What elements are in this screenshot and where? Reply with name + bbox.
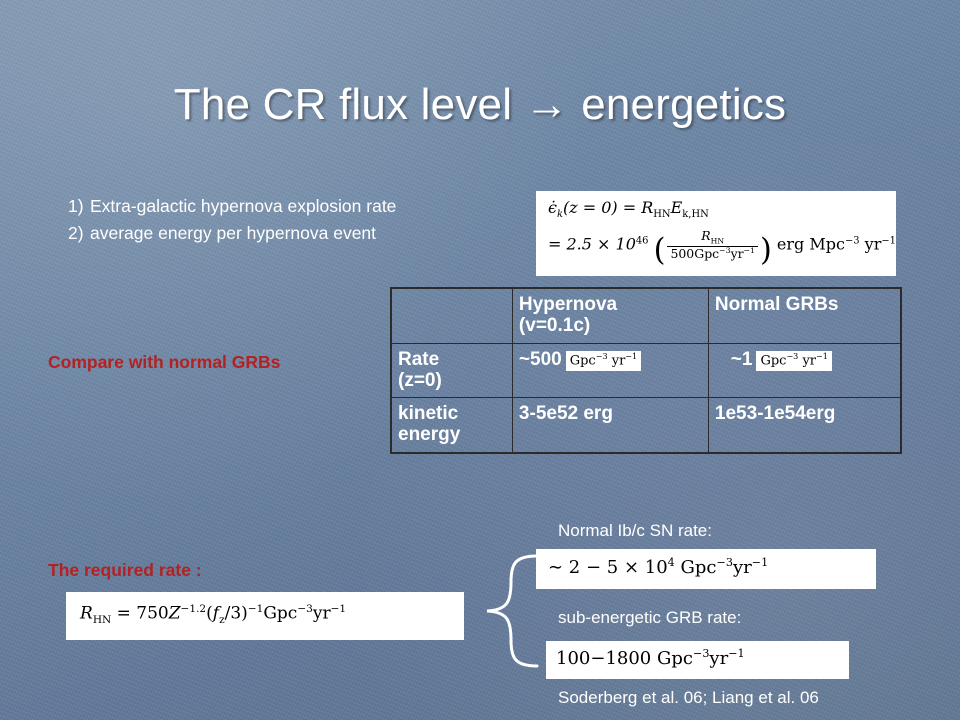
- rhn-div3: /3: [225, 604, 242, 624]
- rate-fraction: RHN 500Gpc−3yr−1: [667, 229, 758, 261]
- page-title: The CR flux level → energetics: [0, 82, 960, 128]
- table-row: kinetic energy 3-5e52 erg 1e53-1e54erg: [392, 398, 901, 453]
- rate-symbol: R: [641, 198, 653, 217]
- grb-unit-exp1: −3: [693, 647, 709, 660]
- required-rate-formula-box: RHN = 750Z−1.2(fz/3)−1Gpc−3yr−1: [66, 592, 464, 640]
- brace-connector-icon: [481, 552, 539, 670]
- numbered-list: 1) Extra-galactic hypernova explosion ra…: [68, 193, 396, 247]
- cell-hypernova-rate-value: ~500: [519, 349, 562, 370]
- cell-grb-rate-unit: Gpc−3 yr−1: [756, 351, 831, 371]
- row-label-kinetic-energy: kinetic energy: [392, 398, 513, 453]
- rhn-symbol: R: [80, 604, 93, 624]
- table-header-hypernova: Hypernova (v=0.1c): [512, 289, 708, 344]
- cell-grb-energy: 1e53-1e54erg: [708, 398, 900, 453]
- row-label-kinetic-energy-line1: kinetic: [398, 403, 506, 424]
- slide-canvas: The CR flux level → energetics 1) Extra-…: [0, 0, 960, 720]
- energy-density-formula-line2: = 2.5 × 1046 ( RHN 500Gpc−3yr−1 ) erg Mp…: [548, 229, 886, 268]
- tail-unit: erg Mpc: [777, 235, 845, 254]
- grb-unit: Gpc: [657, 648, 693, 669]
- rhn-paren-open: (: [206, 604, 213, 624]
- list-item-label: average energy per hypernova event: [90, 220, 376, 247]
- row-label-kinetic-energy-line2: energy: [398, 424, 506, 445]
- rhn-unit-exp1: −3: [297, 603, 313, 615]
- energy-subscript: k,HN: [682, 209, 708, 220]
- list-item-label: Extra-galactic hypernova explosion rate: [90, 193, 396, 220]
- ibc-rate-caption: Normal Ib/c SN rate:: [558, 521, 712, 541]
- ibc-lead: ∼ 2 − 5 × 10: [548, 557, 668, 578]
- fraction-numerator-subscript: HN: [711, 237, 725, 246]
- fraction-numerator-symbol: R: [701, 228, 710, 243]
- rhn-unit: Gpc: [263, 604, 297, 624]
- ibc-rate-formula-box: ∼ 2 − 5 × 104 Gpc−3yr−1: [536, 549, 876, 589]
- fraction-denominator-unit: yr: [731, 246, 744, 261]
- table-header-row: Hypernova (v=0.1c) Normal GRBs: [392, 289, 901, 344]
- grb-unit2: yr: [709, 648, 728, 669]
- reference-caption: Soderberg et al. 06; Liang et al. 06: [558, 688, 819, 708]
- grb-lead: 100−1800: [556, 648, 651, 669]
- table-header-hypernova-line1: Hypernova: [519, 294, 702, 315]
- rhn-equals: = 750: [117, 604, 169, 624]
- tail-exp2: −1: [881, 236, 896, 247]
- tail-exp1: −3: [845, 236, 860, 247]
- eq2-exponent: 46: [636, 236, 649, 247]
- paren-close: ): [760, 233, 772, 268]
- comparison-table: Hypernova (v=0.1c) Normal GRBs Rate (z=0…: [390, 287, 902, 454]
- rhn-z-exponent: −1.2: [181, 603, 207, 615]
- rhn-paren-exponent: −1: [248, 603, 264, 615]
- energy-symbol: E: [671, 198, 683, 217]
- row-label-rate: Rate (z=0): [392, 343, 513, 398]
- cell-hypernova-energy: 3-5e52 erg: [512, 398, 708, 453]
- ibc-unit-exp2: −1: [752, 556, 768, 569]
- ibc-unit: Gpc: [681, 557, 717, 578]
- tail-unit2: yr: [865, 235, 882, 254]
- ibc-exponent: 4: [668, 556, 675, 569]
- fraction-denominator-text: 500Gpc: [670, 246, 719, 261]
- rhn-z-symbol: Z: [169, 604, 181, 624]
- cell-hypernova-rate: ~500Gpc−3 yr−1: [512, 343, 708, 398]
- rhn-unit2: yr: [313, 604, 331, 624]
- grb-rate-caption: sub-energetic GRB rate:: [558, 608, 741, 628]
- fraction-numerator: RHN: [667, 229, 758, 247]
- compare-label: Compare with normal GRBs: [48, 352, 280, 373]
- energy-density-formula-line1: ϵ̇k(z = 0) = RHNEk,HN: [548, 198, 886, 220]
- epsilon-argument: (z = 0) =: [563, 198, 636, 217]
- rhn-paren-close: ): [241, 604, 248, 624]
- list-item: 2) average energy per hypernova event: [68, 220, 396, 247]
- list-item-number: 2): [68, 220, 90, 247]
- ibc-unit-exp1: −3: [717, 556, 733, 569]
- paren-open: (: [654, 233, 666, 268]
- epsilon-dot-symbol: ϵ̇: [548, 198, 557, 217]
- list-item: 1) Extra-galactic hypernova explosion ra…: [68, 193, 396, 220]
- rate-subscript: HN: [653, 209, 670, 220]
- list-item-number: 1): [68, 193, 90, 220]
- row-label-rate-line2: (z=0): [398, 370, 506, 391]
- rhn-subscript: HN: [93, 614, 111, 626]
- cell-grb-rate: ~1Gpc−3 yr−1: [708, 343, 900, 398]
- eq2-lead: = 2.5 × 10: [548, 235, 636, 254]
- required-rate-label: The required rate :: [48, 560, 202, 581]
- rhn-unit-exp2: −1: [331, 603, 347, 615]
- fraction-denominator-exp2: −1: [744, 246, 755, 255]
- grb-unit-exp2: −1: [728, 647, 744, 660]
- ibc-unit2: yr: [733, 557, 752, 578]
- fraction-denominator-exp1: −3: [719, 246, 730, 255]
- table-row: Rate (z=0) ~500Gpc−3 yr−1 ~1Gpc−3 yr−1: [392, 343, 901, 398]
- cell-grb-rate-value: ~1: [731, 349, 753, 370]
- row-label-rate-line1: Rate: [398, 349, 506, 370]
- table-corner-cell: [392, 289, 513, 344]
- table-header-hypernova-line2: (v=0.1c): [519, 315, 702, 336]
- energy-density-formula-box: ϵ̇k(z = 0) = RHNEk,HN = 2.5 × 1046 ( RHN…: [536, 191, 896, 276]
- table-header-normal-grbs: Normal GRBs: [708, 289, 900, 344]
- grb-rate-formula-box: 100−1800 Gpc−3yr−1: [546, 641, 849, 679]
- fraction-denominator: 500Gpc−3yr−1: [667, 247, 758, 261]
- cell-hypernova-rate-unit: Gpc−3 yr−1: [566, 351, 641, 371]
